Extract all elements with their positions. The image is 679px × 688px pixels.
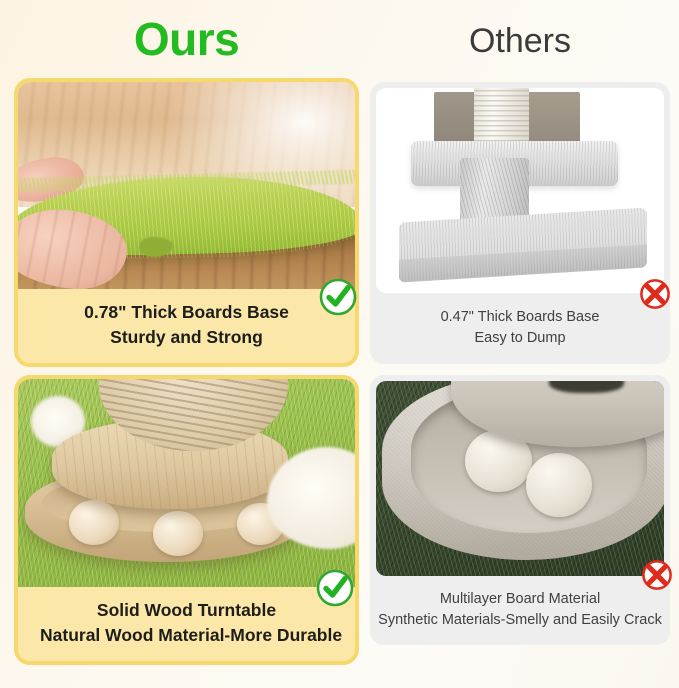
card-others-top: 0.47" Thick Boards Base Easy to Dump <box>370 82 670 364</box>
caption-line-1: Solid Wood Turntable <box>40 598 333 623</box>
card-ours-bottom: Solid Wood Turntable Natural Wood Materi… <box>14 375 359 665</box>
caption-line-1: Multilayer Board Material <box>376 589 664 610</box>
photo-ours-thick-board <box>18 82 355 297</box>
caption-line-2: Sturdy and Strong <box>40 325 333 350</box>
caption-others-bottom: Multilayer Board Material Synthetic Mate… <box>370 576 670 645</box>
caption-line-2: Synthetic Materials-Smelly and Easily Cr… <box>376 610 664 631</box>
cross-mark-icon <box>638 277 672 311</box>
column-headers: Ours Others <box>0 0 679 76</box>
header-ours: Ours <box>14 8 359 70</box>
caption-line-1: 0.47" Thick Boards Base <box>376 307 664 328</box>
wooden-ball <box>153 511 204 556</box>
caption-ours-top: 0.78" Thick Boards Base Sturdy and Stron… <box>18 289 355 363</box>
card-ours-top: 0.78" Thick Boards Base Sturdy and Stron… <box>14 78 359 367</box>
photo-others-particleboard-turntable <box>376 381 664 576</box>
card-others-bottom: Multilayer Board Material Synthetic Mate… <box>370 375 670 645</box>
comparison-infographic: Ours Others 0.78" Thick Boards Base Stur… <box>0 0 679 688</box>
caption-others-top: 0.47" Thick Boards Base Easy to Dump <box>370 293 670 364</box>
check-mark-icon <box>318 277 358 317</box>
cross-mark-icon <box>640 558 674 592</box>
photo-others-thin-board <box>376 88 664 293</box>
caption-line-2: Easy to Dump <box>376 328 664 349</box>
caption-line-2: Natural Wood Material-More Durable <box>40 623 333 648</box>
brown-board-right <box>526 92 581 145</box>
sisal-rope-rings <box>474 88 529 145</box>
caption-ours-bottom: Solid Wood Turntable Natural Wood Materi… <box>18 587 355 661</box>
brown-board-left <box>434 92 480 145</box>
photo-ours-wood-turntable <box>18 379 355 592</box>
check-mark-icon <box>315 568 355 608</box>
wooden-ball <box>69 500 120 545</box>
plastic-ball <box>526 453 592 517</box>
header-others: Others <box>370 8 670 74</box>
dark-shadow-area <box>549 381 624 393</box>
caption-line-1: 0.78" Thick Boards Base <box>40 300 333 325</box>
